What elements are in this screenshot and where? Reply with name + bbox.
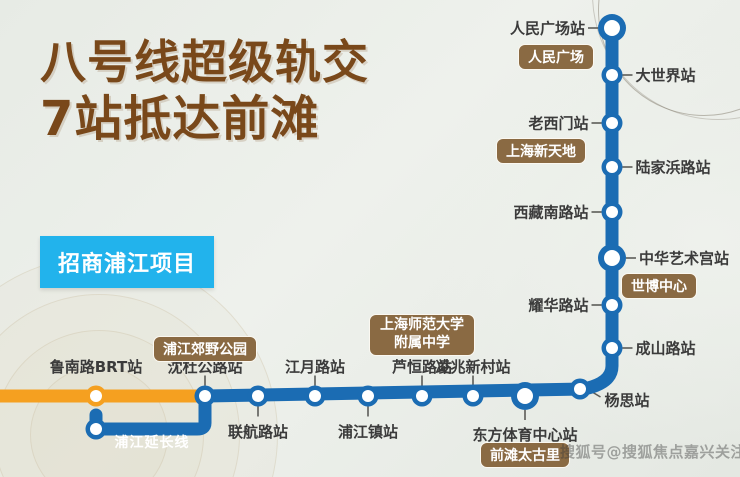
station-subbadge-h-7[interactable]: 前滩太古里 [480,442,570,468]
station-label-h-0[interactable]: 鲁南路BRT站 [50,356,143,377]
station-label-h-6[interactable]: 凌兆新村站 [435,356,510,377]
station-label-6[interactable]: 耀华路站 [528,295,588,316]
station-label-8[interactable]: 杨思站 [605,390,650,411]
station-subbadge-2[interactable]: 上海新天地 [496,138,586,164]
station-label-7[interactable]: 成山路站 [636,338,696,359]
station-label-h-4[interactable]: 浦江镇站 [338,421,398,442]
station-label-3[interactable]: 陆家浜路站 [636,157,711,178]
station-label-h-3[interactable]: 江月路站 [285,356,345,377]
extension-line-label: 浦江延长线 [115,432,190,452]
station-label-0[interactable]: 人民广场站 [510,18,585,39]
station-label-1[interactable]: 大世界站 [636,65,696,86]
station-subbadge-h-5[interactable]: 上海师范大学附属中学 [369,314,475,356]
metro-line-infographic: 八号线超级轨交 7站抵达前滩 招商浦江项目 浦江延长线 人民广场站人民广场大世界… [0,0,740,477]
station-subbadge-0[interactable]: 人民广场 [518,44,594,70]
station-label-h-2[interactable]: 联航路站 [228,421,288,442]
station-subbadge-h-1[interactable]: 浦江郊野公园 [153,336,257,362]
station-label-5[interactable]: 中华艺术宫站 [639,248,729,269]
watermark-text: 搜狐号@搜狐焦点嘉兴关注 [560,441,740,462]
station-label-4[interactable]: 西藏南路站 [513,202,588,223]
station-subbadge-5[interactable]: 世博中心 [621,273,697,299]
station-label-2[interactable]: 老西门站 [528,113,588,134]
